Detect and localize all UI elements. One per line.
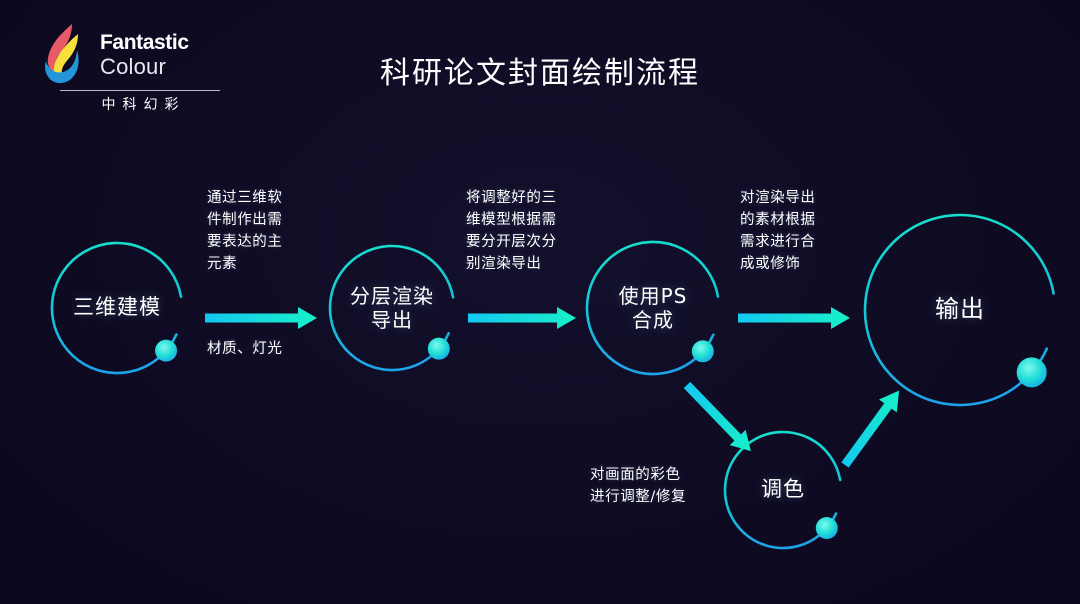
process-node-output[interactable]: 输出 <box>843 193 1077 427</box>
cap-composite-to-output: 对渲染导出 的素材根据 需求进行合 成或修饰 <box>740 187 850 275</box>
arrow-render-to-composite <box>468 305 576 331</box>
logo-chinese-name: 中科幻彩 <box>60 94 220 114</box>
node-label-render: 分层渲染 导出 <box>308 224 476 392</box>
node-label-output: 输出 <box>843 193 1077 427</box>
arrow-composite-to-output <box>738 305 850 331</box>
cap-grading: 对画面的彩色 进行调整/修复 <box>590 464 720 508</box>
arrow-glyph <box>738 305 850 331</box>
cap-render-to-composite: 将调整好的三 维模型根据需 要分开层次分 别渲染导出 <box>466 187 590 275</box>
process-node-render[interactable]: 分层渲染 导出 <box>308 224 476 392</box>
arrow-glyph <box>468 305 576 331</box>
node-label-composite: 使用PS 合成 <box>565 220 741 396</box>
page-title: 科研论文封面绘制流程 <box>0 48 1080 92</box>
process-node-composite[interactable]: 使用PS 合成 <box>565 220 741 396</box>
cap-modeling-to-render-top: 通过三维软 件制作出需 要表达的主 元素 <box>207 187 317 275</box>
arrow-modeling-to-render <box>205 305 317 331</box>
slide-canvas: Fantastic Colour 中科幻彩 科研论文封面绘制流程 三维建模分层渲… <box>0 0 1080 604</box>
cap-modeling-to-render-bottom: 材质、灯光 <box>207 338 337 360</box>
process-node-modeling[interactable]: 三维建模 <box>30 221 204 395</box>
node-label-modeling: 三维建模 <box>30 221 204 395</box>
arrow-glyph <box>205 305 317 331</box>
